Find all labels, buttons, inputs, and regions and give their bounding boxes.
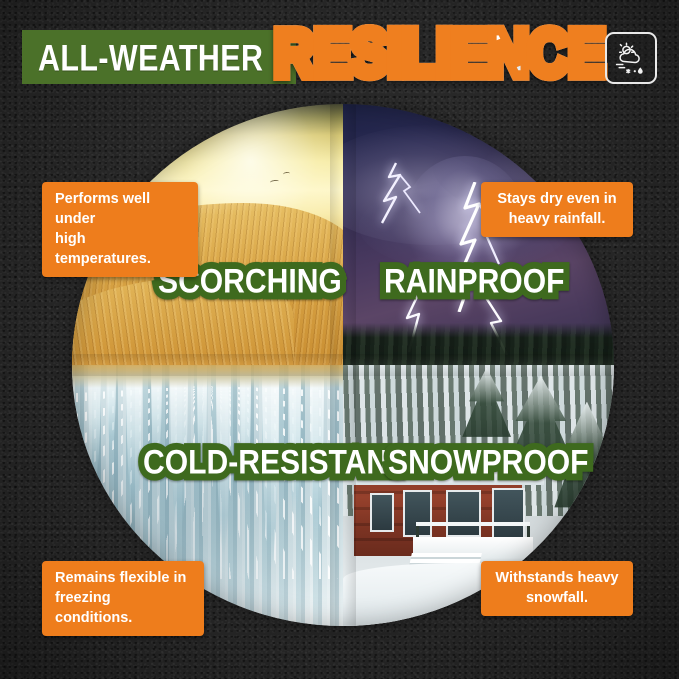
callout-snowproof-line2: snowfall. [494, 588, 620, 608]
title-resilience: RESILIENCE [274, 20, 605, 76]
callout-scorching-line2: high temperatures. [55, 229, 185, 269]
label-snowproof-text: SNOWPROOF [388, 445, 589, 479]
callout-scorching-line1: Performs well under [55, 189, 185, 229]
cabin-window [370, 493, 394, 532]
bird-icon [270, 179, 279, 184]
header-banner: ALL-WEATHER RESILIENCE [0, 26, 679, 98]
callout-snowproof-line1: Withstands heavy [494, 568, 620, 588]
sun-cloud-wind-rain-snow-icon [612, 39, 650, 77]
title-badge-all-weather: ALL-WEATHER [22, 30, 296, 84]
callout-rainproof-line2: heavy rainfall. [494, 209, 620, 229]
callout-rainproof-line1: Stays dry even in [494, 189, 620, 209]
title-text-all-weather: ALL-WEATHER [38, 39, 263, 76]
callout-snowproof: Withstands heavy snowfall. [481, 561, 633, 616]
infographic-canvas: ALL-WEATHER RESILIENCE [0, 0, 679, 679]
callout-rainproof: Stays dry even in heavy rainfall. [481, 182, 633, 237]
weather-badge [605, 32, 657, 84]
lightning-bolt-icon [376, 161, 438, 257]
label-rainproof: RAINPROOF [384, 265, 576, 297]
label-cold-resistant-text: COLD-RESISTANT [143, 445, 406, 479]
label-snowproof: SNOWPROOF [388, 446, 601, 478]
callout-scorching: Performs well under high temperatures. [42, 182, 198, 277]
callout-cold-resistant-line2: freezing conditions. [55, 588, 191, 628]
storm-treeline [343, 323, 614, 365]
bird-icon [283, 171, 290, 176]
callout-cold-resistant-line1: Remains flexible in [55, 568, 191, 588]
label-cold-resistant: COLD-RESISTANT [143, 446, 423, 478]
label-rainproof-text: RAINPROOF [384, 264, 564, 298]
title-text-resilience: RESILIENCE [274, 20, 605, 86]
callout-cold-resistant: Remains flexible in freezing conditions. [42, 561, 204, 636]
